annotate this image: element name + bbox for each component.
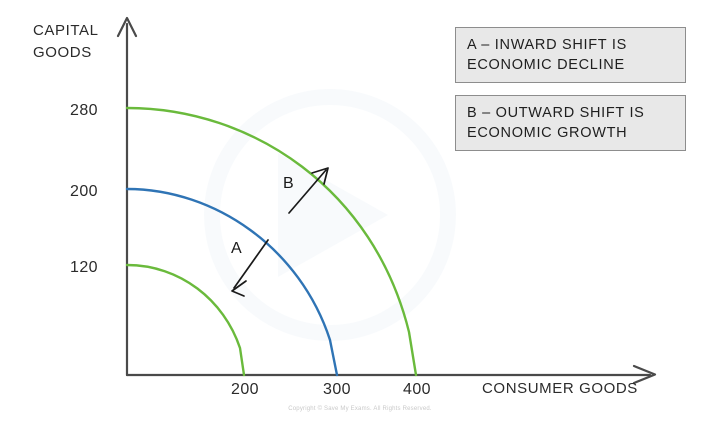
- arrow-a-label: A: [231, 240, 242, 257]
- arrow-b-outward: [289, 168, 328, 213]
- x-tick-label-200: 200: [231, 381, 259, 398]
- ppc-curve-outer-green: [127, 108, 416, 375]
- x-tick-label-400: 400: [403, 381, 431, 398]
- y-tick-label-280: 280: [70, 102, 98, 119]
- arrow-b-label: B: [283, 175, 294, 192]
- y-axis-label-line2: GOODS: [33, 44, 92, 61]
- legend-box-b: B – OUTWARD SHIFT IS ECONOMIC GROWTH: [455, 95, 686, 151]
- ppc-curve-inner-green: [127, 265, 244, 375]
- y-tick-label-200: 200: [70, 183, 98, 200]
- y-axis-label-line1: CAPITAL: [33, 22, 99, 39]
- legend-box-a: A – INWARD SHIFT IS ECONOMIC DECLINE: [455, 27, 686, 83]
- copyright-notice: Copyright © Save My Exams. All Rights Re…: [288, 405, 432, 412]
- y-tick-label-120: 120: [70, 259, 98, 276]
- y-axis: [118, 18, 136, 375]
- x-tick-label-300: 300: [323, 381, 351, 398]
- ppc-curve-original-blue: [127, 189, 337, 375]
- x-axis-label: CONSUMER GOODS: [482, 380, 638, 397]
- ppc-diagram-canvas: A B CAPITAL GOODS CONSUMER GOODS 280 200…: [0, 0, 720, 422]
